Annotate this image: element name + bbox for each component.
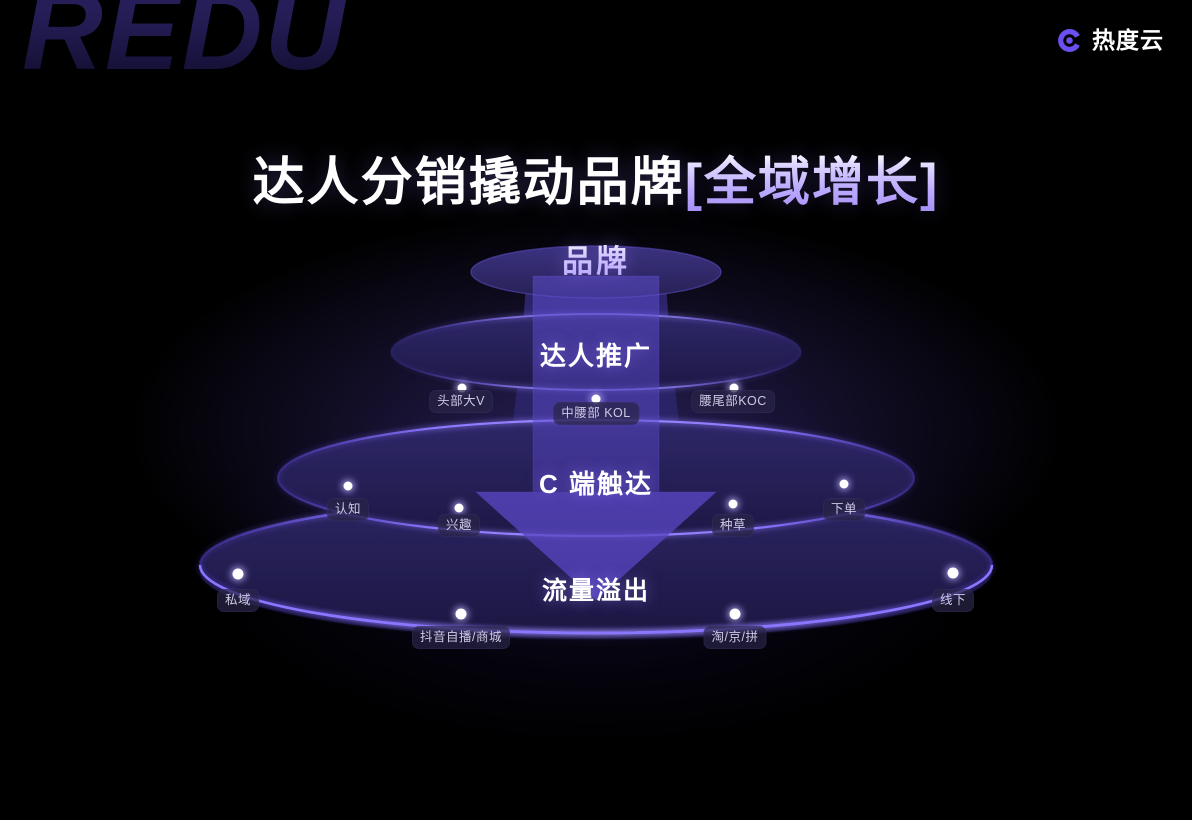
node-chip-tier3-1: 兴趣 bbox=[438, 514, 480, 537]
tier-label-consumer-reach: C 端触达 bbox=[539, 464, 653, 501]
node-chip-tier4-0: 私域 bbox=[217, 589, 259, 612]
page-title-main: 达人分销撬动品牌 bbox=[253, 154, 685, 212]
redu-watermark: REDU bbox=[22, 0, 347, 95]
node-dot bbox=[456, 609, 467, 620]
redu-logo-icon bbox=[1056, 27, 1083, 54]
node-chip-tier3-3: 下单 bbox=[823, 498, 865, 521]
background-glow bbox=[46, 300, 1146, 820]
node-chip-tier3-2: 种草 bbox=[712, 514, 754, 537]
logo-text: 热度云 bbox=[1092, 27, 1164, 54]
node-dot bbox=[458, 384, 467, 393]
node-chip-tier2-1: 中腰部 KOL bbox=[553, 402, 639, 425]
node-dot bbox=[455, 504, 464, 513]
page-title: 达人分销撬动品牌[全域增长] bbox=[0, 151, 1192, 215]
node-dot bbox=[233, 569, 244, 580]
tier-label-creator-promotion: 达人推广 bbox=[540, 336, 652, 373]
node-chip-tier4-1: 抖音自播/商城 bbox=[412, 626, 510, 649]
node-chip-tier4-3: 线下 bbox=[932, 589, 974, 612]
node-chip-tier2-0: 头部大V bbox=[429, 390, 493, 413]
node-chip-tier4-2: 淘/京/拼 bbox=[704, 626, 767, 649]
funnel-svg bbox=[0, 0, 1192, 668]
node-dot bbox=[344, 482, 353, 491]
tier-label-brand: 品牌 bbox=[562, 236, 630, 281]
page-title-highlight: [全域增长] bbox=[685, 154, 940, 212]
node-dot bbox=[729, 500, 738, 509]
node-dot bbox=[840, 480, 849, 489]
node-dot bbox=[730, 609, 741, 620]
brand-logo: 热度云 bbox=[1056, 27, 1164, 54]
funnel-diagram: 品牌 达人推广 C 端触达 流量溢出 头部大V 中腰部 KOL 腰尾部KOC 认… bbox=[0, 0, 1192, 668]
node-dot bbox=[948, 568, 959, 579]
node-chip-tier3-0: 认知 bbox=[327, 498, 369, 521]
node-chip-tier2-2: 腰尾部KOC bbox=[691, 390, 775, 413]
tier-label-traffic-overflow: 流量溢出 bbox=[542, 571, 650, 607]
node-dot bbox=[730, 384, 739, 393]
node-dot bbox=[592, 395, 601, 404]
